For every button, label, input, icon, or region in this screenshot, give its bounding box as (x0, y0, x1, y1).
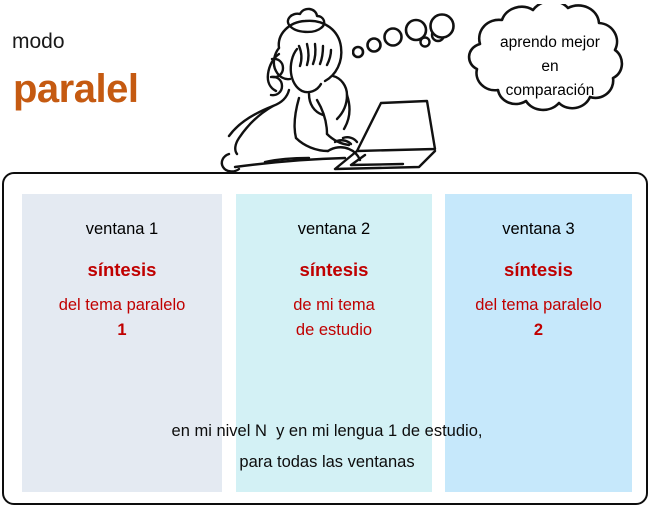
window-column-2-title: ventana 2 (236, 218, 432, 240)
window-column-1: ventana 1 síntesis del tema paralelo 1 (22, 194, 222, 492)
thought-bubble-text: aprendo mejor en comparación (460, 31, 640, 103)
window-column-1-description: del tema paralelo 1 (22, 293, 222, 343)
windows-panel: ventana 1 síntesis del tema paralelo 1 v… (2, 172, 648, 505)
window-column-1-title: ventana 1 (22, 218, 222, 240)
thought-bubble-line-3: comparación (460, 79, 640, 103)
window-column-2-description: de mi tema de estudio (236, 293, 432, 343)
windows-columns-row: ventana 1 síntesis del tema paralelo 1 v… (4, 194, 650, 492)
window-column-2: ventana 2 síntesis de mi tema de estudio (236, 194, 432, 492)
window-column-3-desc-line-1: del tema paralelo (475, 296, 602, 314)
window-column-3-heading: síntesis (445, 258, 632, 282)
thought-bubble-line-1: aprendo mejor (460, 31, 640, 55)
window-column-3-title: ventana 3 (445, 218, 632, 240)
window-column-2-heading: síntesis (236, 258, 432, 282)
thought-bubble-line-2: en (460, 55, 640, 79)
window-column-2-desc-line-2: de estudio (236, 318, 432, 343)
window-column-1-desc-line-2: 1 (22, 318, 222, 343)
window-column-3-desc-line-2: 2 (445, 318, 632, 343)
window-column-3-description: del tema paralelo 2 (445, 293, 632, 343)
mode-name-title: paralel (13, 66, 138, 112)
window-column-2-desc-line-1: de mi tema (293, 296, 375, 314)
window-column-1-heading: síntesis (22, 258, 222, 282)
mode-label: modo (12, 30, 65, 54)
header-area: modo paralel (0, 0, 657, 172)
window-column-3: ventana 3 síntesis del tema paralelo 2 (445, 194, 632, 492)
window-column-1-desc-line-1: del tema paralelo (59, 296, 186, 314)
